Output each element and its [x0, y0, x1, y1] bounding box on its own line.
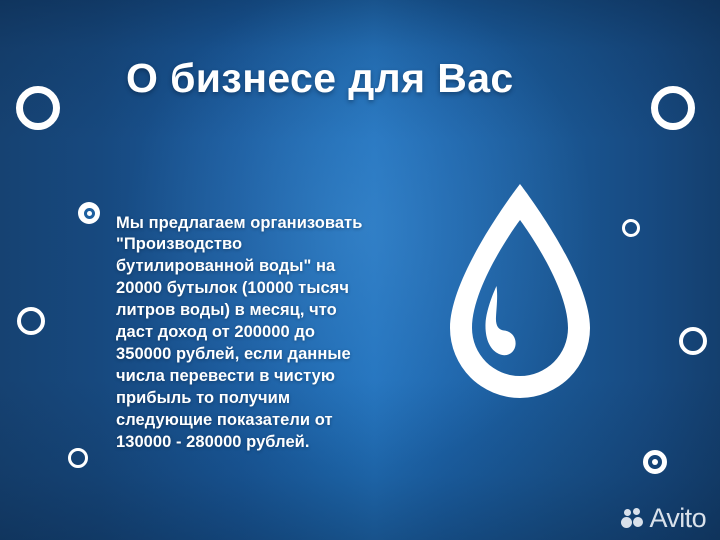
avito-wordmark: Avito	[649, 505, 706, 532]
avito-watermark: Avito	[621, 505, 706, 532]
bullet-ring-icon	[78, 202, 100, 224]
bullet-ring-core	[87, 211, 92, 216]
ring-dotted-bottom-right-center-dot	[652, 459, 658, 465]
ring-top-right	[651, 86, 695, 130]
page-title: О бизнесе для Вас	[126, 55, 646, 103]
ring-mid-left	[17, 307, 45, 335]
water-drop-icon	[440, 178, 600, 413]
ring-top-left	[16, 86, 60, 130]
body-paragraph: Мы предлагаем организовать "Производство…	[116, 213, 362, 454]
ring-small-right	[622, 219, 640, 237]
presentation-slide: О бизнесе для Вас Мы предлагаем организо…	[0, 0, 720, 540]
ring-dotted-bottom-right	[643, 450, 667, 474]
bullet-list-item: Мы предлагаем организовать "Производство…	[78, 196, 408, 470]
ring-mid-right	[679, 327, 707, 355]
avito-logo-icon	[621, 506, 647, 532]
